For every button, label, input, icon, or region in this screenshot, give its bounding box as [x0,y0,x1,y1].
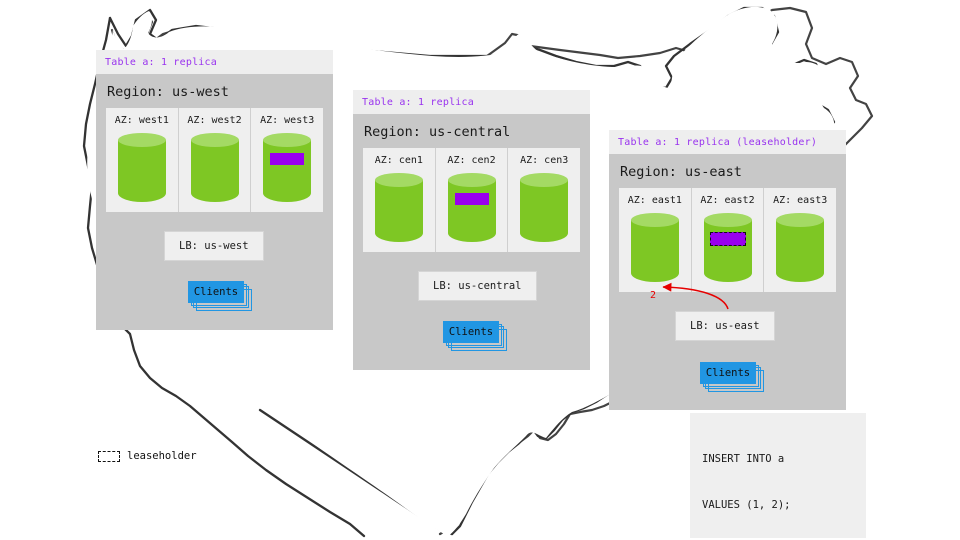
az-cell-cen1[interactable]: AZ: cen1 [363,148,436,252]
cylinder-top [118,133,166,147]
node-cylinder-east2[interactable] [704,213,752,283]
az-label: AZ: east1 [628,195,682,206]
cylinder-top [375,173,423,187]
cylinder-body [631,220,679,282]
az-cell-west3[interactable]: AZ: west3 [251,108,323,212]
az-row-us-west: AZ: west1 AZ: west2 AZ: west3 [106,108,323,212]
az-label: AZ: west3 [260,115,314,126]
cylinder-body [776,220,824,282]
az-label: AZ: west2 [187,115,241,126]
cylinder-body [191,140,239,202]
az-row-us-east: AZ: east1 AZ: east2 AZ: east3 [619,188,836,292]
legend-label: leaseholder [127,450,197,462]
cylinder-body [704,220,752,282]
region-title: Region: us-west [96,74,333,108]
az-cell-east2[interactable]: AZ: east2 [692,188,765,292]
az-cell-east3[interactable]: AZ: east3 [764,188,836,292]
region-header-us-central: Table a: 1 replica [353,90,590,114]
replica-marker-cen2 [455,193,489,205]
az-cell-east1[interactable]: AZ: east1 [619,188,692,292]
region-header-us-west: Table a: 1 replica [96,50,333,74]
clients-stack-us-west[interactable]: Clients [188,281,244,303]
load-balancer-us-central[interactable]: LB: us-central [418,271,537,301]
legend-leaseholder: leaseholder [98,450,197,462]
az-label: AZ: cen1 [375,155,423,166]
replica-marker-west3 [270,153,304,165]
node-cylinder-west3[interactable] [263,133,311,203]
az-label: AZ: west1 [115,115,169,126]
node-cylinder-cen1[interactable] [375,173,423,243]
load-balancer-us-west[interactable]: LB: us-west [164,231,264,261]
region-title: Region: us-central [353,114,590,148]
region-header-label: Table a: 1 replica (leaseholder) [618,137,837,148]
cylinder-body [375,180,423,242]
node-cylinder-east3[interactable] [776,213,824,283]
az-row-us-central: AZ: cen1 AZ: cen2 AZ: cen3 [363,148,580,252]
az-cell-west2[interactable]: AZ: west2 [179,108,252,212]
az-label: AZ: east2 [700,195,754,206]
sql-line-1: INSERT INTO a [702,452,854,467]
node-cylinder-cen2[interactable] [448,173,496,243]
node-cylinder-west2[interactable] [191,133,239,203]
clients-stack-us-central[interactable]: Clients [443,321,499,343]
sql-statement-box: INSERT INTO a VALUES (1, 2); [690,413,866,538]
cylinder-top [520,173,568,187]
az-cell-cen3[interactable]: AZ: cen3 [508,148,580,252]
cylinder-top [448,173,496,187]
az-label: AZ: cen2 [447,155,495,166]
node-cylinder-west1[interactable] [118,133,166,203]
cylinder-body [448,180,496,242]
load-balancer-us-east[interactable]: LB: us-east [675,311,775,341]
node-cylinder-cen3[interactable] [520,173,568,243]
node-cylinder-east1[interactable] [631,213,679,283]
cylinder-body [520,180,568,242]
replica-marker-leaseholder-east2 [710,232,746,246]
clients-button[interactable]: Clients [700,362,756,384]
clients-stack-us-east[interactable]: Clients [700,362,756,384]
cylinder-body [118,140,166,202]
cylinder-top [704,213,752,227]
az-label: AZ: east3 [773,195,827,206]
clients-button[interactable]: Clients [443,321,499,343]
leaseholder-dashed-box-icon [98,451,120,462]
az-label: AZ: cen3 [520,155,568,166]
sql-line-2: VALUES (1, 2); [702,498,854,513]
clients-button[interactable]: Clients [188,281,244,303]
cylinder-top [776,213,824,227]
region-header-label: Table a: 1 replica [362,97,581,108]
region-header-label: Table a: 1 replica [105,57,324,68]
az-cell-cen2[interactable]: AZ: cen2 [436,148,509,252]
region-header-us-east: Table a: 1 replica (leaseholder) [609,130,846,154]
region-title: Region: us-east [609,154,846,188]
annotation-number-2: 2 [650,290,656,301]
cylinder-top [191,133,239,147]
cylinder-body [263,140,311,202]
cylinder-top [631,213,679,227]
cylinder-top [263,133,311,147]
az-cell-west1[interactable]: AZ: west1 [106,108,179,212]
